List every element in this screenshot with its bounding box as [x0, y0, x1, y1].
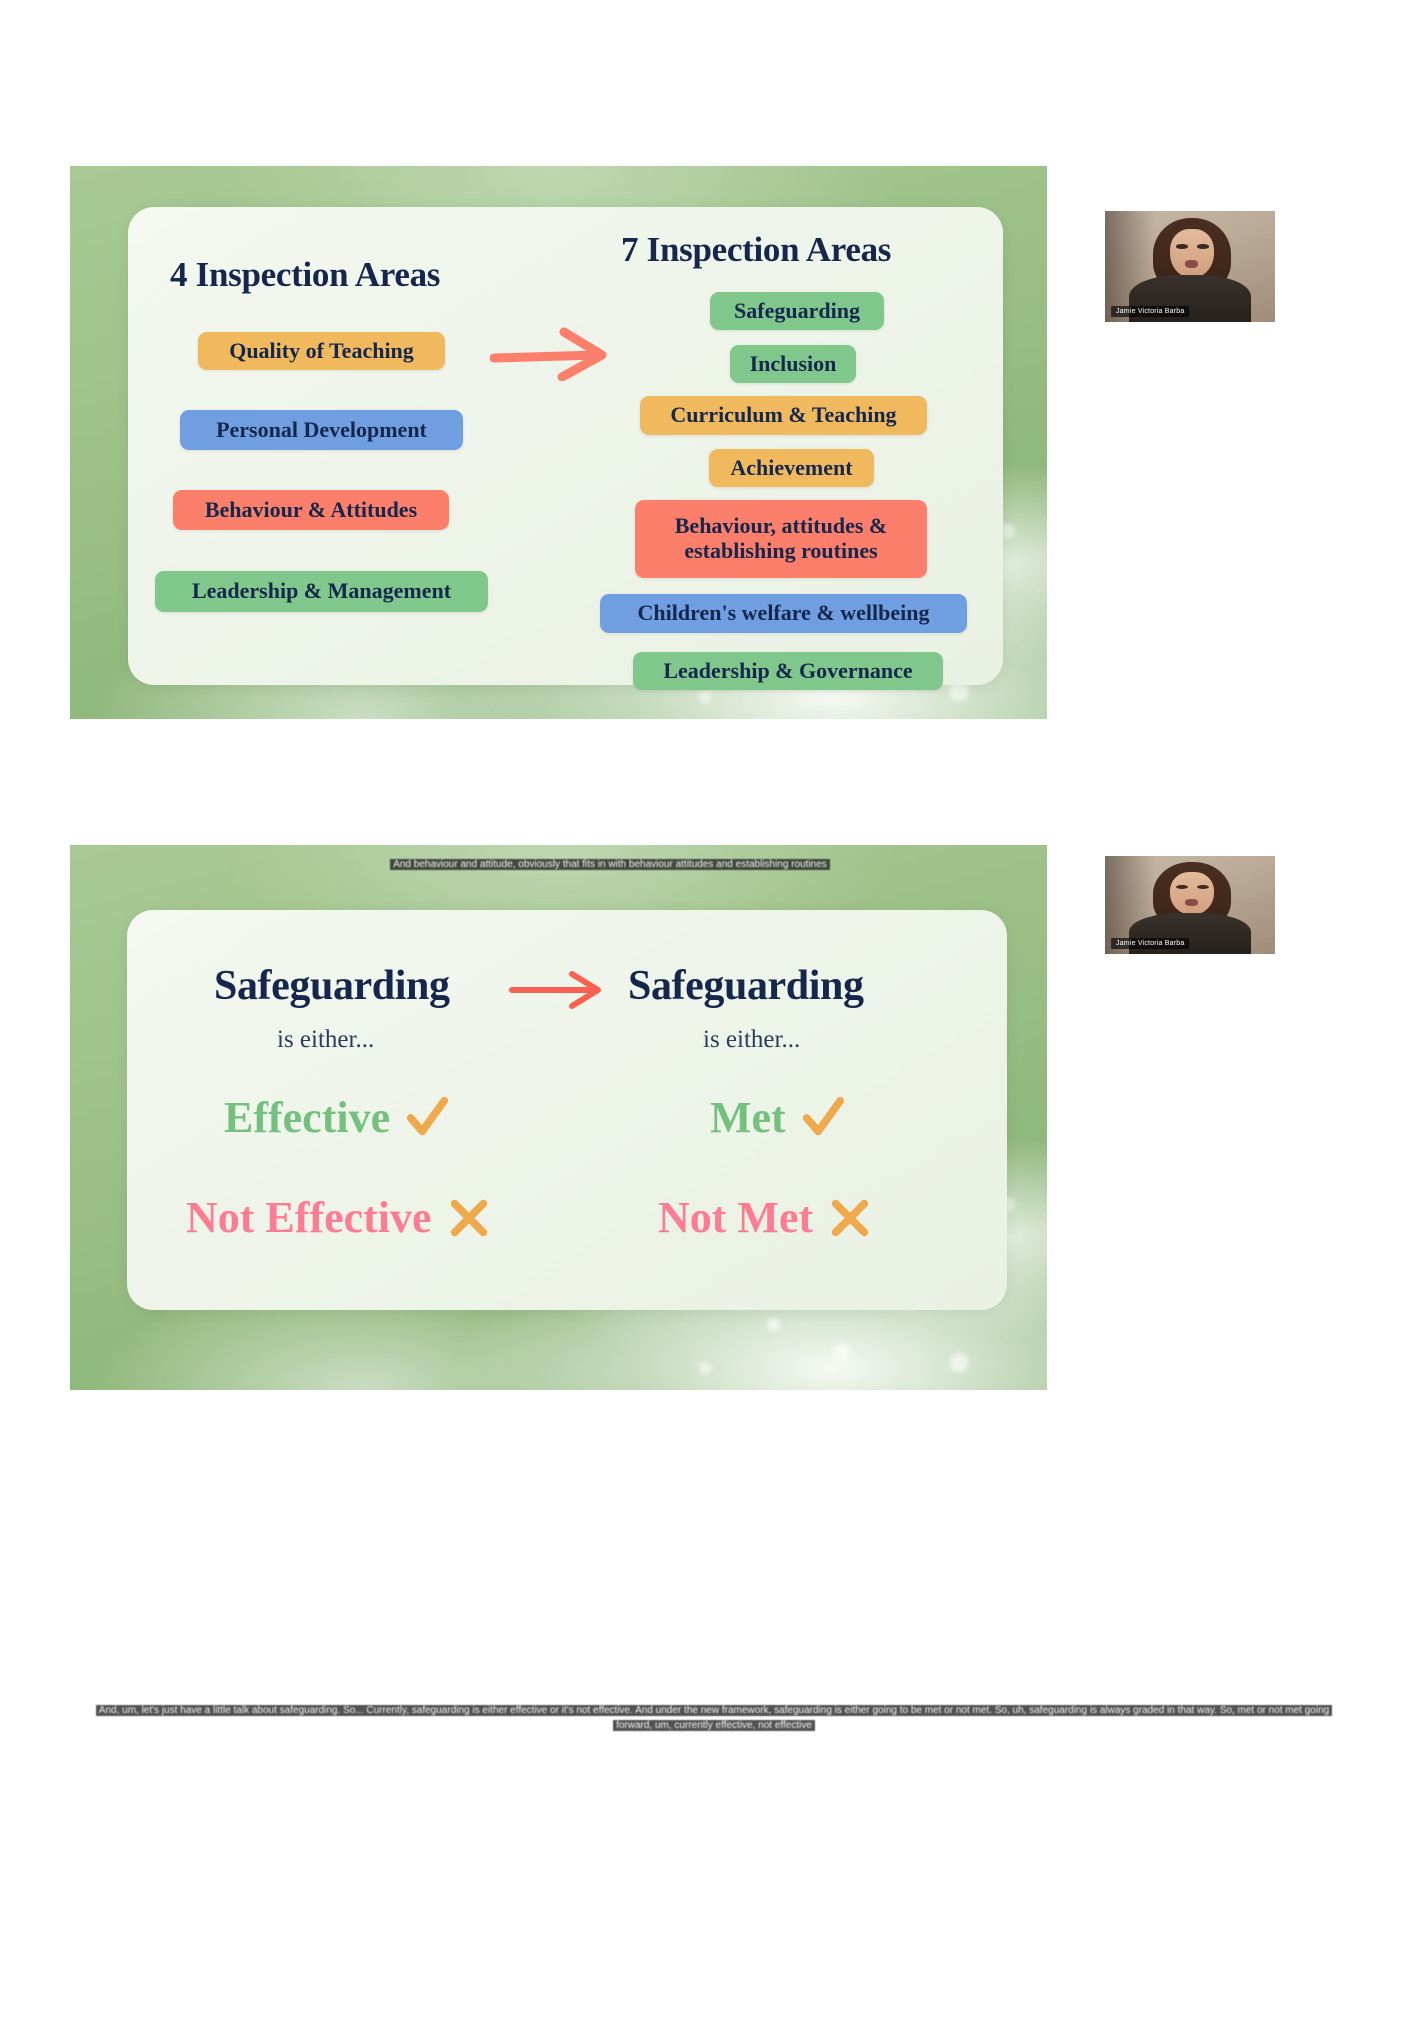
left-heading-safeguarding: Safeguarding [214, 962, 450, 1010]
inspection-area-achievement[interactable]: Achievement [709, 449, 874, 487]
screenshot-page: 4 Inspection Areas 7 Inspection Areas Qu… [0, 0, 1428, 2028]
slide-safeguarding-grading [70, 845, 1047, 1390]
inspection-area-leadership-management[interactable]: Leadership & Management [155, 571, 488, 612]
verdict-not-effective: Not Effective [186, 1192, 492, 1243]
inspection-area-leadership-governance[interactable]: Leadership & Governance [633, 652, 943, 690]
verdict-not-met: Not Met [658, 1192, 873, 1243]
left-subtitle: is either... [277, 1026, 374, 1054]
presenter-mouth [1185, 899, 1199, 906]
cross-mark-icon [827, 1195, 873, 1241]
inspection-area-behaviour-attitudes[interactable]: Behaviour & Attitudes [173, 490, 449, 530]
check-mark-icon [800, 1095, 846, 1141]
verdict-label: Not Met [658, 1192, 813, 1243]
presenter-eye-left [1176, 244, 1188, 248]
verdict-effective: Effective [224, 1092, 450, 1143]
presenter-webcam-tile-slide-2[interactable]: Jamie Victoria Barba [1105, 856, 1275, 954]
cross-mark-icon [446, 1195, 492, 1241]
presenter-eye-right [1197, 244, 1209, 248]
presenter-name-label: Jamie Victoria Barba [1111, 938, 1189, 949]
check-mark-icon [404, 1095, 450, 1141]
inspection-area-curriculum-teaching[interactable]: Curriculum & Teaching [640, 396, 927, 435]
right-heading-safeguarding: Safeguarding [628, 962, 864, 1010]
right-arrow-icon [490, 325, 620, 381]
caption-text: And, um, let's just have a little talk a… [96, 1705, 1332, 1731]
inspection-area-behaviour-routines[interactable]: Behaviour, attitudes & establishing rout… [635, 500, 927, 578]
presenter-mouth [1185, 260, 1199, 268]
left-column-title: 4 Inspection Areas [170, 255, 440, 295]
verdict-label: Effective [224, 1092, 390, 1143]
presenter-face [1170, 872, 1214, 915]
right-arrow-icon [508, 968, 608, 1012]
presenter-name-label: Jamie Victoria Barba [1111, 306, 1189, 317]
verdict-met: Met [710, 1092, 846, 1143]
inspection-area-inclusion[interactable]: Inclusion [730, 345, 856, 383]
inspection-area-safeguarding[interactable]: Safeguarding [710, 292, 884, 330]
inspection-area-quality-of-teaching[interactable]: Quality of Teaching [198, 332, 445, 370]
verdict-label: Met [710, 1092, 786, 1143]
right-column-title: 7 Inspection Areas [621, 230, 891, 270]
presenter-face [1170, 229, 1214, 278]
inspection-area-childrens-welfare[interactable]: Children's welfare & wellbeing [600, 594, 967, 633]
presenter-webcam-tile-slide-1[interactable]: Jamie Victoria Barba [1105, 211, 1275, 322]
closed-caption-slide-2: And, um, let's just have a little talk a… [88, 1703, 1340, 1733]
right-subtitle: is either... [703, 1026, 800, 1054]
inspection-area-personal-development[interactable]: Personal Development [180, 410, 463, 450]
verdict-label: Not Effective [186, 1192, 432, 1243]
